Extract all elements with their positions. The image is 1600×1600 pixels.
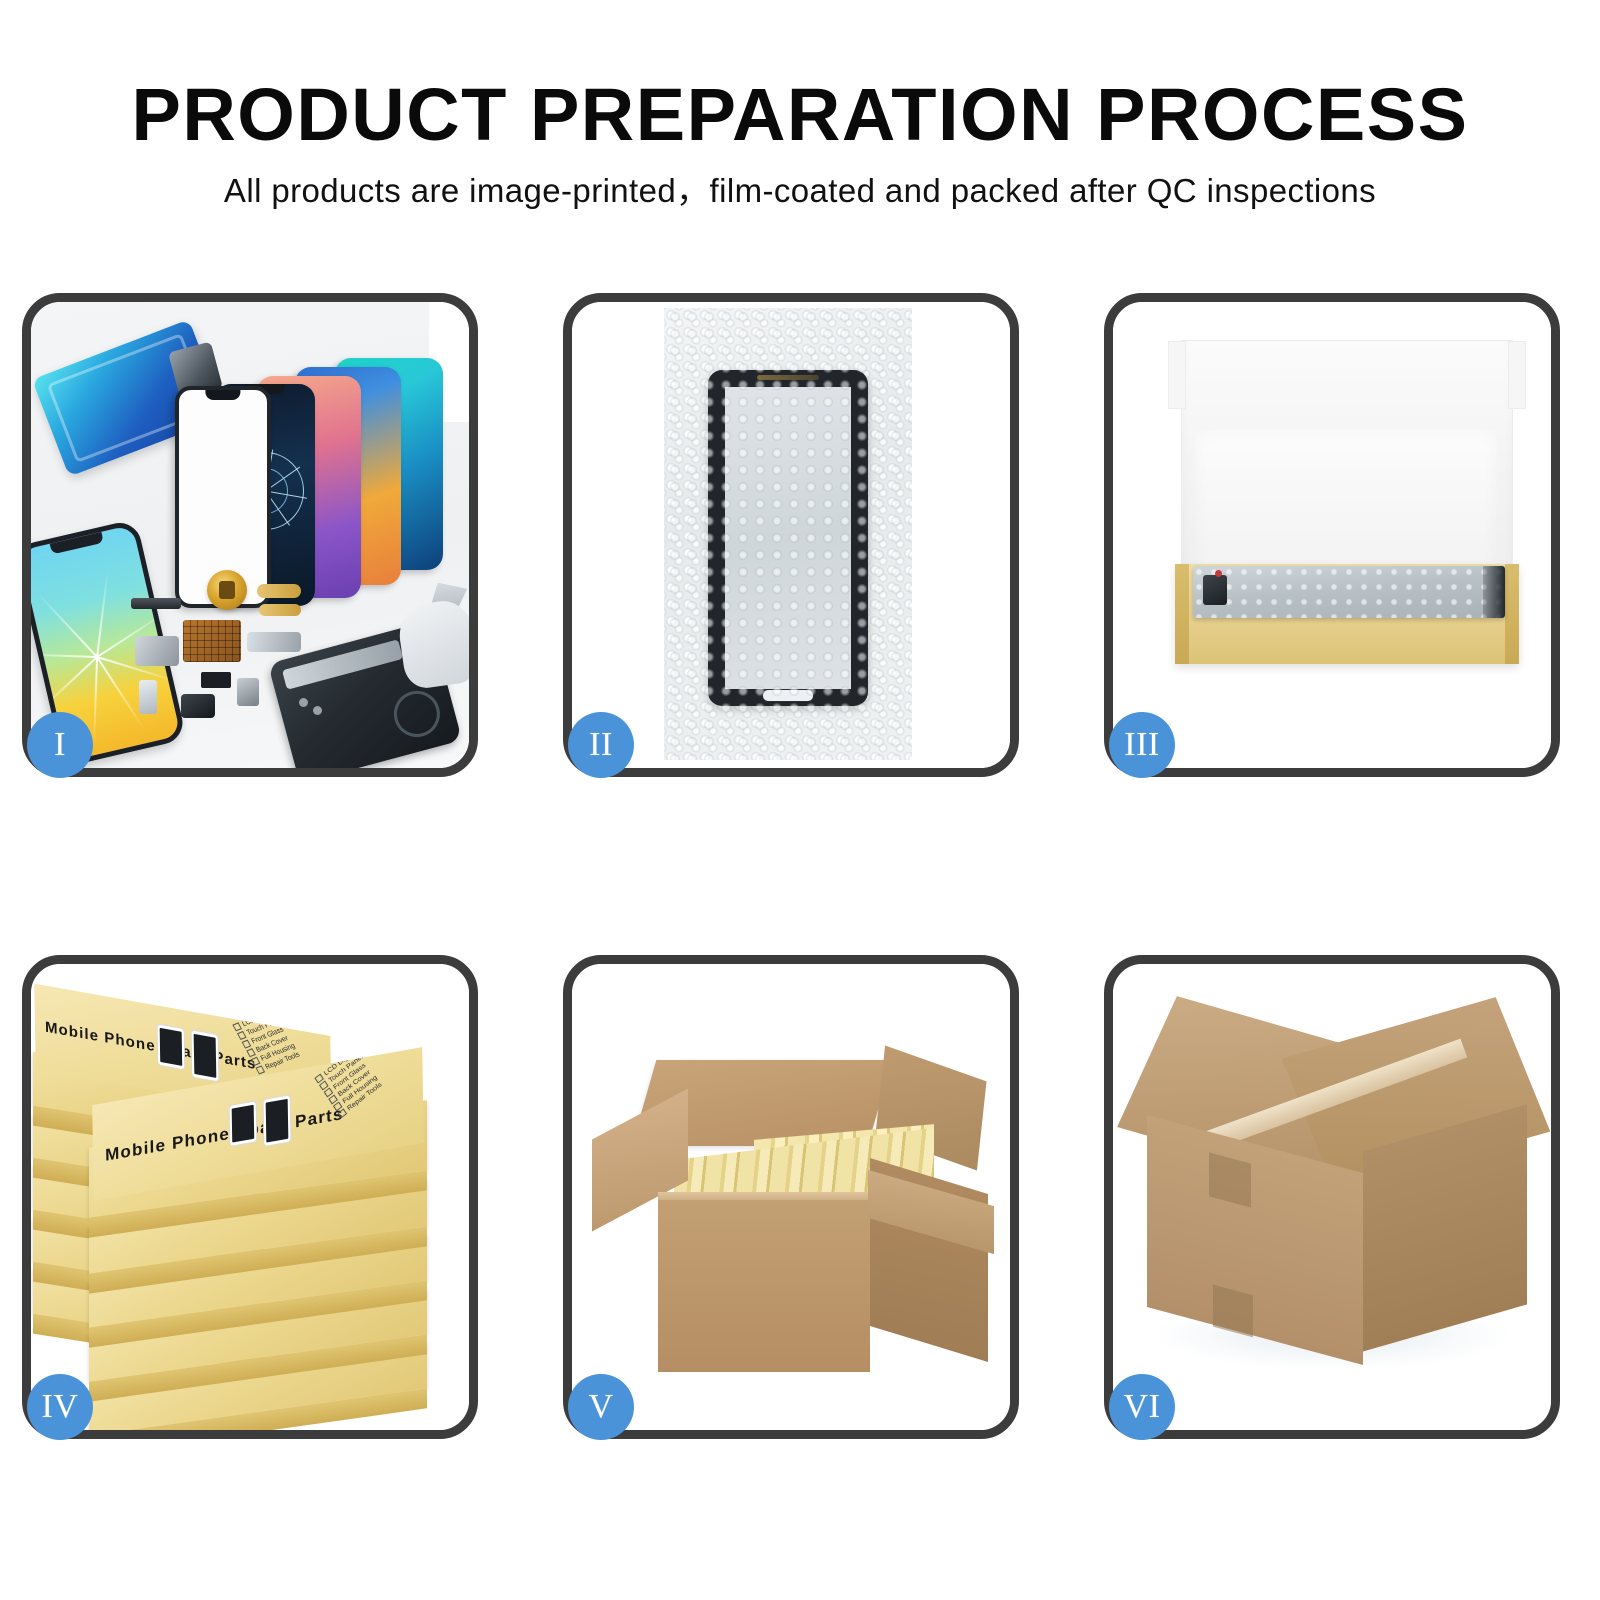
camera-module-icon [181,694,215,718]
open-carton-scene [572,964,1010,1430]
bubble-wrap-scene [572,302,1010,768]
notch-icon [50,532,104,555]
phone-fan-group [153,354,453,604]
step-badge-3: III [1109,712,1175,778]
screw-icon [313,706,322,715]
step-panel-4: Mobile Phone Spare Parts LCD Digitizer T… [22,955,478,1439]
step-image-3 [1113,302,1551,768]
notch-icon [205,390,240,400]
step-image-6 [1113,964,1551,1430]
flex-cable-icon [257,584,301,598]
packed-screen-icon [1193,566,1505,618]
step-image-5 [572,964,1010,1430]
box-artwork-thumbnails [229,1094,292,1153]
step-badge-2: II [568,712,634,778]
carton-front-icon [658,1200,870,1372]
retail-box-brand-label: Mobile Phone Spare Parts [105,1105,344,1164]
box-artwork-thumbnails [157,1023,220,1082]
step-panel-2: II [563,293,1019,777]
ribbon-cable-icon [247,632,301,652]
flex-cable-icon [259,604,301,616]
wireless-charging-coil-icon [207,570,247,610]
retail-box-brand-label: Mobile Phone Spare Parts [45,1020,257,1072]
spare-parts-scene [31,302,469,768]
phone-thumbnail-icon [191,1029,220,1082]
step-badge-5: V [568,1374,634,1440]
page-subtitle: All products are image-printed，film-coat… [0,152,1600,207]
foam-insert-icon [1195,430,1497,582]
phone-thumbnail-icon [157,1023,186,1070]
step-badge-4: IV [27,1374,93,1440]
step-badge-1: I [27,712,93,778]
step-panel-3: III [1104,293,1560,777]
sealed-carton-scene [1113,964,1551,1430]
step-image-2 [572,302,1010,768]
step-image-1 [31,302,469,768]
process-steps-grid: I II I [22,293,1578,1435]
step-image-4: Mobile Phone Spare Parts LCD Digitizer T… [31,964,469,1430]
step-panel-1: I [22,293,478,777]
red-marker-icon [1215,570,1222,577]
battery-connector-icon [201,672,231,688]
screw-icon [299,698,308,707]
screen-connector-icon [1203,575,1227,605]
screen-edge-icon [1483,566,1505,618]
sim-tray-icon [139,680,157,714]
screen-assembly-icon [708,370,868,706]
ribbon-cable-icon [135,636,179,666]
mailer-box-scene [1113,302,1551,768]
step-panel-6: VI [1104,955,1560,1439]
page-title: PRODUCT PREPARATION PROCESS [0,0,1600,152]
bubble-wrap-sheet-icon [664,308,912,760]
step-badge-6: VI [1109,1374,1175,1440]
phone-thumbnail-icon [263,1094,292,1147]
retail-box-stack-scene: Mobile Phone Spare Parts LCD Digitizer T… [31,964,469,1430]
earpiece-speaker-icon [131,598,181,609]
logic-board-icon [183,620,241,662]
taptic-engine-icon [237,678,259,706]
step-panel-5: V [563,955,1019,1439]
page-header: PRODUCT PREPARATION PROCESS All products… [0,0,1600,250]
phone-thumbnail-icon [229,1100,258,1147]
